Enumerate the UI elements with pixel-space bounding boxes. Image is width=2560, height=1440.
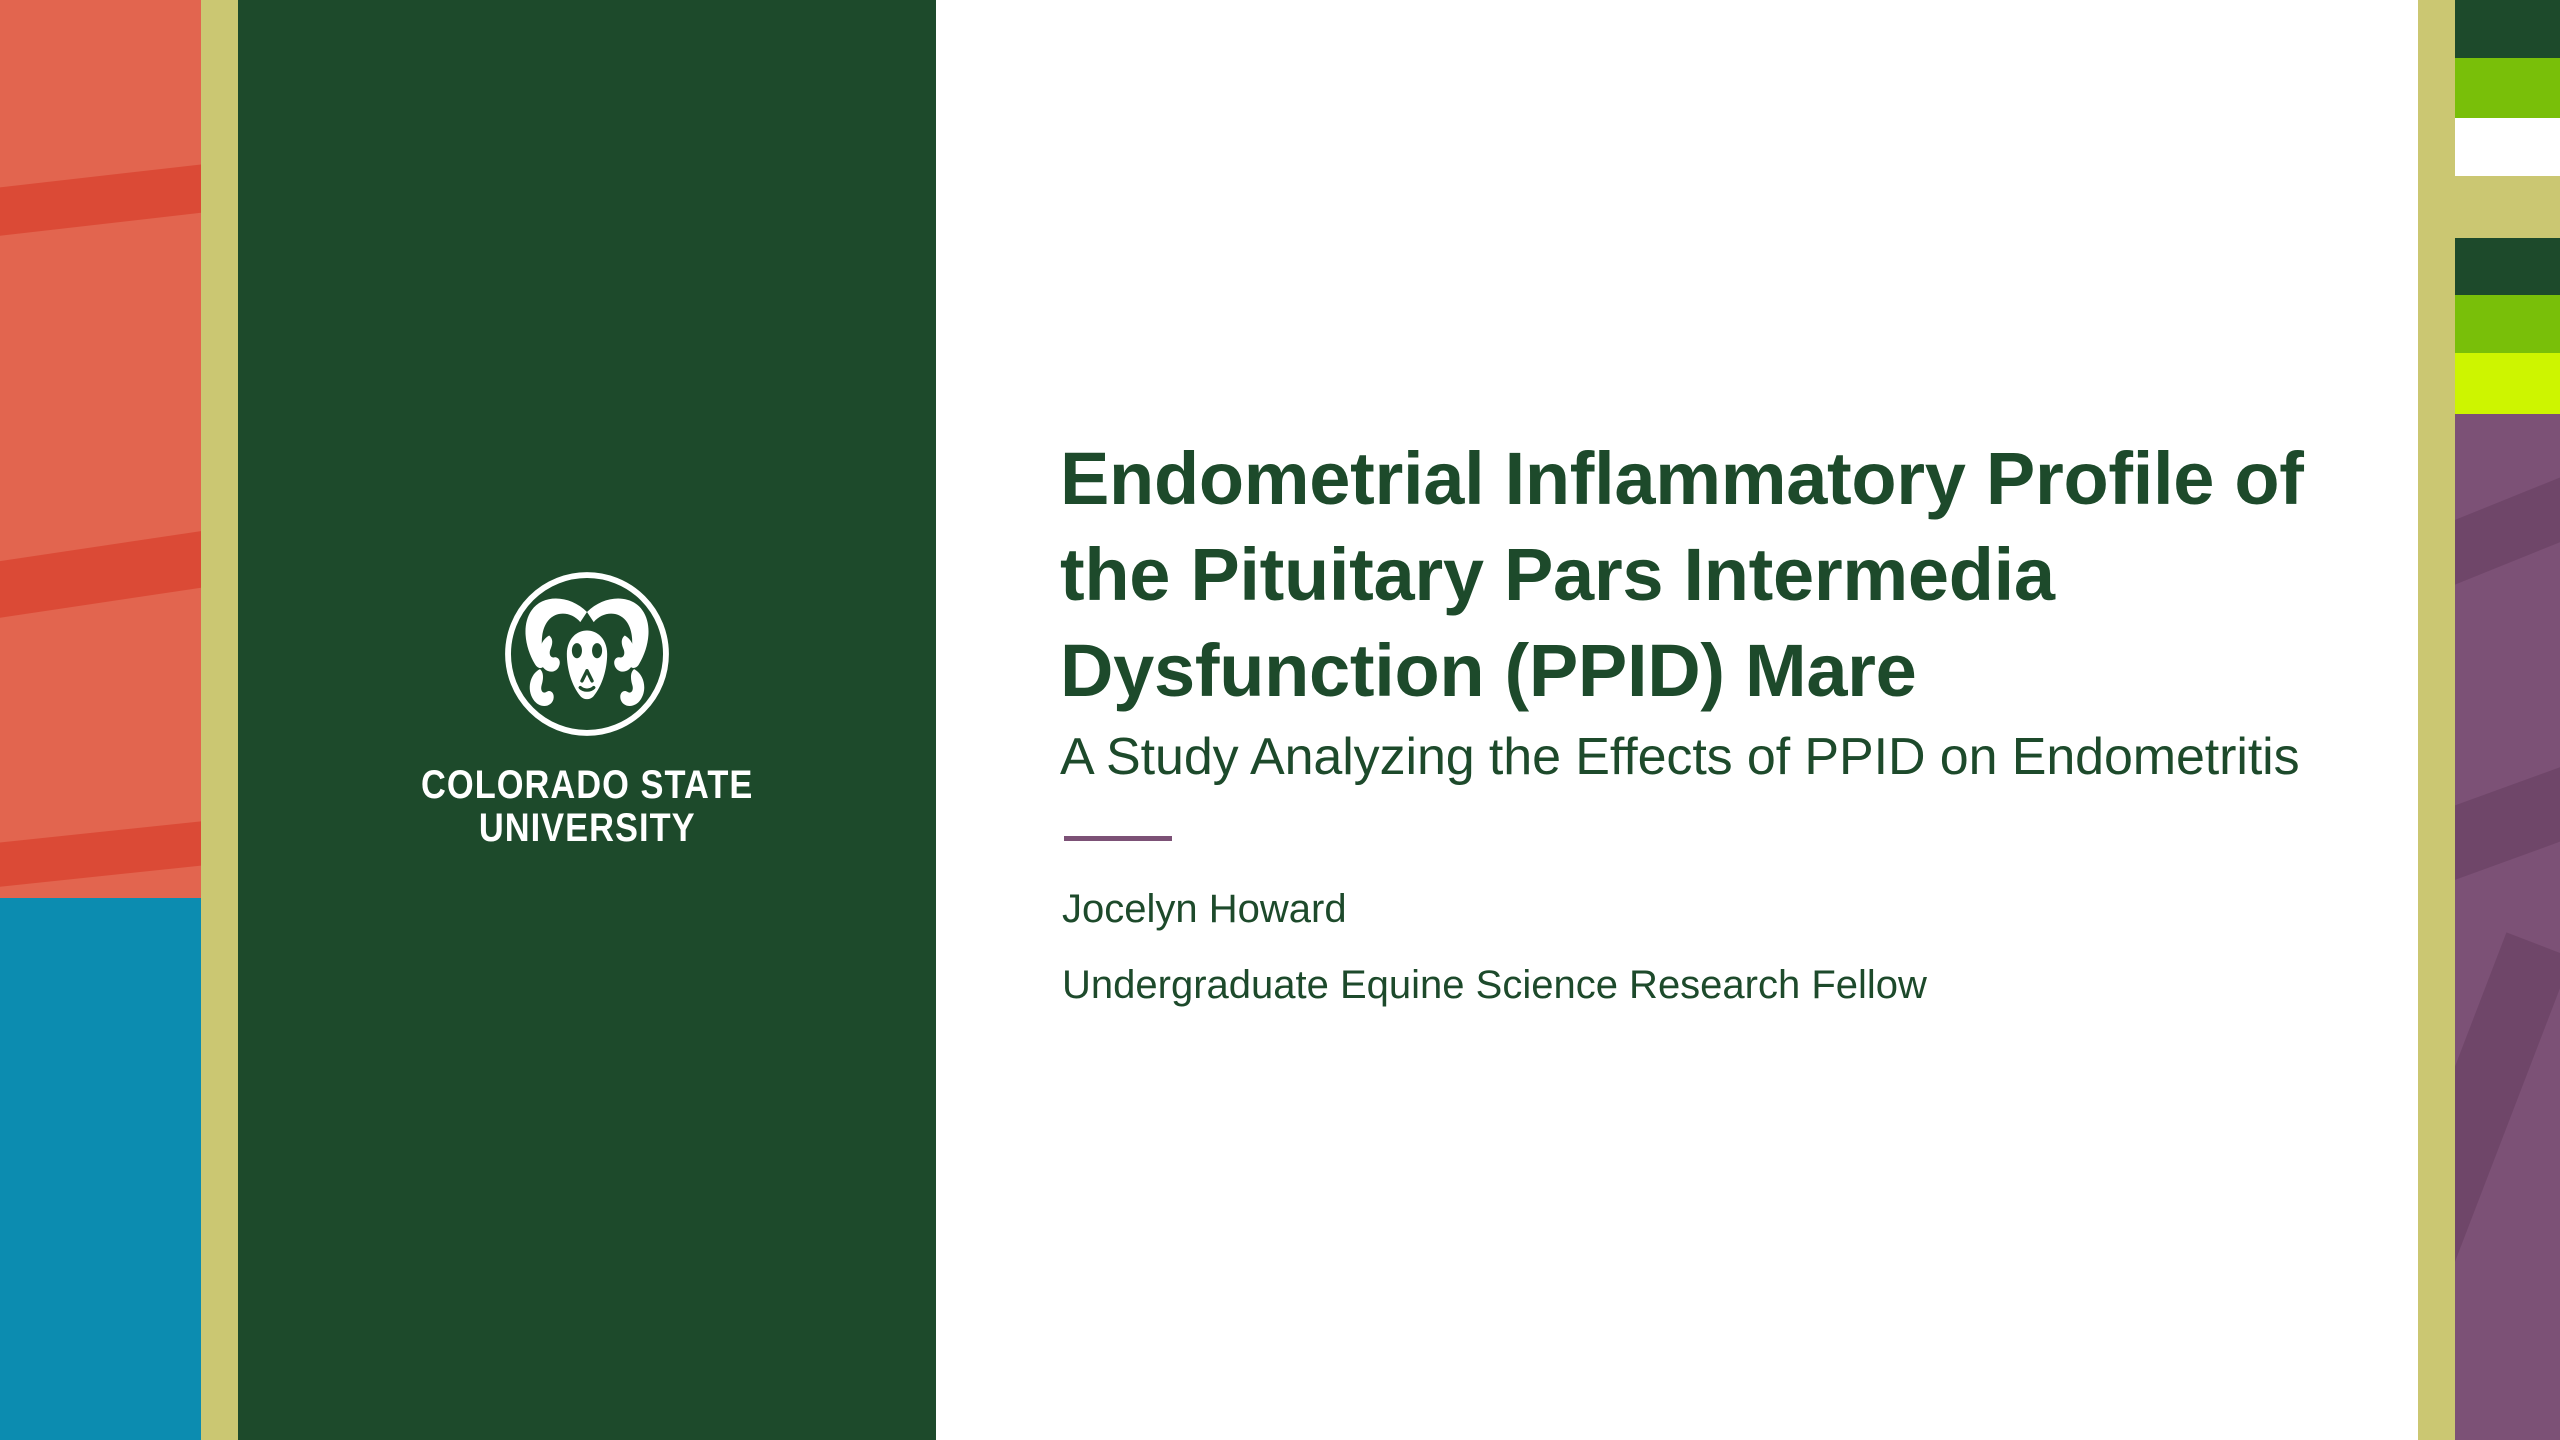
brush-stroke-icon — [2455, 750, 2560, 888]
left-decorative-edge — [0, 0, 201, 1440]
wordmark-line-1: COLORADO STATE — [421, 763, 753, 807]
brush-stroke-icon — [0, 814, 201, 889]
presentation-slide: COLORADO STATE UNIVERSITY Endometrial In… — [0, 0, 2560, 1440]
csu-ram-logo-icon — [503, 570, 671, 738]
band-lime — [2455, 353, 2560, 414]
band-bright-green-2 — [2455, 295, 2560, 353]
band-dark-green-2 — [2455, 238, 2560, 295]
slide-title: Endometrial Inflammatory Profile of the … — [1060, 431, 2350, 720]
band-khaki — [2455, 176, 2560, 238]
band-dark-green — [2455, 0, 2560, 58]
brush-stroke-icon — [2455, 459, 2560, 590]
author-name: Jocelyn Howard — [1062, 885, 2350, 933]
salmon-block — [0, 0, 201, 898]
left-khaki-stripe — [201, 0, 238, 1440]
slide-subtitle: A Study Analyzing the Effects of PPID on… — [1060, 724, 2350, 791]
teal-block — [0, 898, 201, 1440]
title-divider — [1064, 836, 1172, 841]
wordmark-line-2: UNIVERSITY — [421, 807, 753, 850]
band-white — [2455, 118, 2560, 176]
band-purple — [2455, 414, 2560, 1440]
author-role: Undergraduate Equine Science Research Fe… — [1062, 961, 2350, 1009]
brush-stroke-icon — [2455, 932, 2560, 1265]
university-wordmark: COLORADO STATE UNIVERSITY — [421, 764, 753, 850]
right-khaki-stripe — [2418, 0, 2455, 1440]
brush-stroke-icon — [0, 523, 201, 623]
band-bright-green — [2455, 58, 2560, 118]
right-decorative-bands — [2455, 0, 2560, 1440]
brush-stroke-icon — [0, 158, 201, 240]
brand-panel: COLORADO STATE UNIVERSITY — [238, 0, 936, 1440]
slide-content: Endometrial Inflammatory Profile of the … — [1060, 0, 2350, 1440]
university-logo: COLORADO STATE UNIVERSITY — [394, 570, 780, 850]
